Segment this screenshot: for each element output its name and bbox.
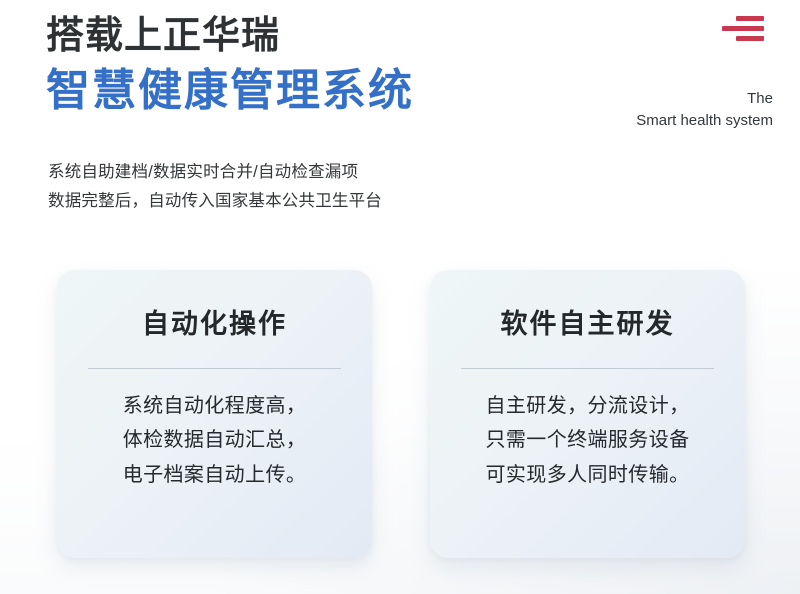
subtitle-line2: 数据完整后，自动传入国家基本公共卫生平台 — [48, 187, 382, 216]
headline-secondary: 智慧健康管理系统 — [46, 64, 414, 118]
three-red-bars-icon — [722, 16, 766, 46]
card-divider — [88, 368, 341, 369]
card-body: 系统自动化程度高， 体检数据自动汇总， 电子档案自动上传。 — [123, 389, 307, 493]
card-body-line3: 可实现多人同时传输。 — [486, 458, 690, 493]
red-bar-middle — [722, 26, 764, 31]
card-body-line2: 只需一个终端服务设备 — [486, 423, 690, 458]
english-subtitle-line2: Smart health system — [636, 110, 773, 132]
headline-group: 搭载上正华瑞 智慧健康管理系统 — [46, 12, 414, 118]
card-title: 自动化操作 — [142, 310, 287, 340]
red-bar-bottom — [736, 36, 764, 41]
red-bar-top — [736, 16, 764, 21]
card-body-line1: 自主研发，分流设计， — [486, 389, 690, 424]
feature-card-automation: 自动化操作 系统自动化程度高， 体检数据自动汇总， 电子档案自动上传。 — [57, 270, 372, 558]
card-body-line1: 系统自动化程度高， — [123, 389, 307, 424]
card-body: 自主研发，分流设计， 只需一个终端服务设备 可实现多人同时传输。 — [486, 389, 690, 493]
card-divider — [461, 368, 714, 369]
headline-primary: 搭载上正华瑞 — [46, 12, 414, 58]
english-subtitle-line1: The — [636, 88, 773, 110]
card-title: 软件自主研发 — [501, 310, 675, 340]
card-body-line3: 电子档案自动上传。 — [123, 458, 307, 493]
promo-slide: 搭载上正华瑞 智慧健康管理系统 The Smart health system … — [0, 0, 800, 594]
subtitle-group: 系统自助建档/数据实时合并/自动检查漏项 数据完整后，自动传入国家基本公共卫生平… — [48, 158, 382, 216]
card-body-line2: 体检数据自动汇总， — [123, 423, 307, 458]
feature-card-list: 自动化操作 系统自动化程度高， 体检数据自动汇总， 电子档案自动上传。 软件自主… — [57, 270, 745, 558]
english-subtitle-group: The Smart health system — [636, 88, 773, 132]
subtitle-line1: 系统自助建档/数据实时合并/自动检查漏项 — [48, 158, 382, 187]
feature-card-software-rd: 软件自主研发 自主研发，分流设计， 只需一个终端服务设备 可实现多人同时传输。 — [430, 270, 745, 558]
